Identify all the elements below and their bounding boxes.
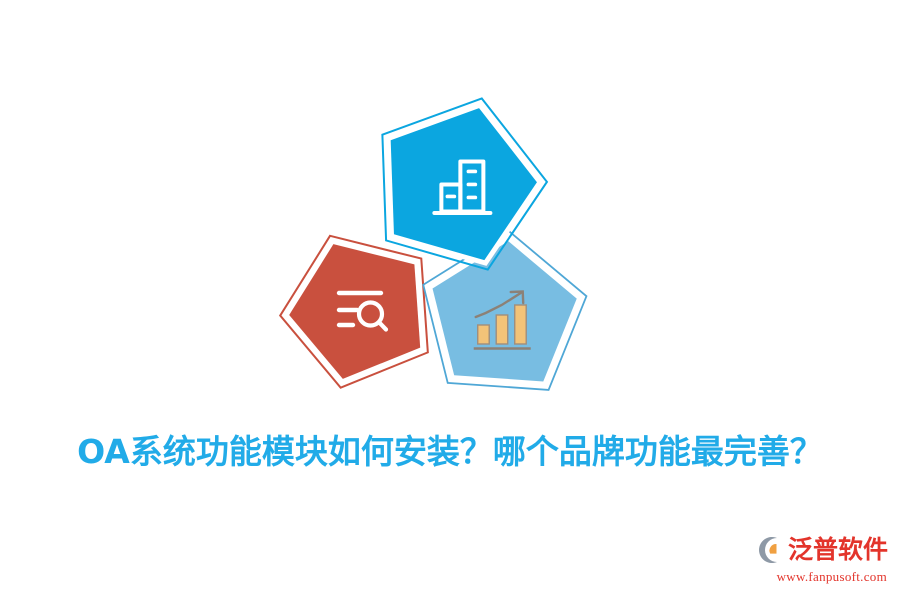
brand-name: 泛普软件 bbox=[788, 535, 888, 565]
brand-row: 泛普软件 bbox=[748, 530, 888, 570]
hero-pentagon-cluster bbox=[255, 55, 625, 425]
brand-watermark[interactable]: 泛普软件 www.fanpusoft.com bbox=[748, 530, 888, 592]
brand-url: www.fanpusoft.com bbox=[748, 569, 888, 585]
pentagon-building[interactable] bbox=[355, 75, 564, 279]
page-canvas: OA系统功能模块如何安装？哪个品牌功能最完善？ 泛普软件 www.fanpuso… bbox=[0, 0, 900, 600]
page-title: OA系统功能模块如何安装？哪个品牌功能最完善？ bbox=[0, 431, 900, 473]
fanpu-arc-logo-icon bbox=[755, 535, 785, 565]
